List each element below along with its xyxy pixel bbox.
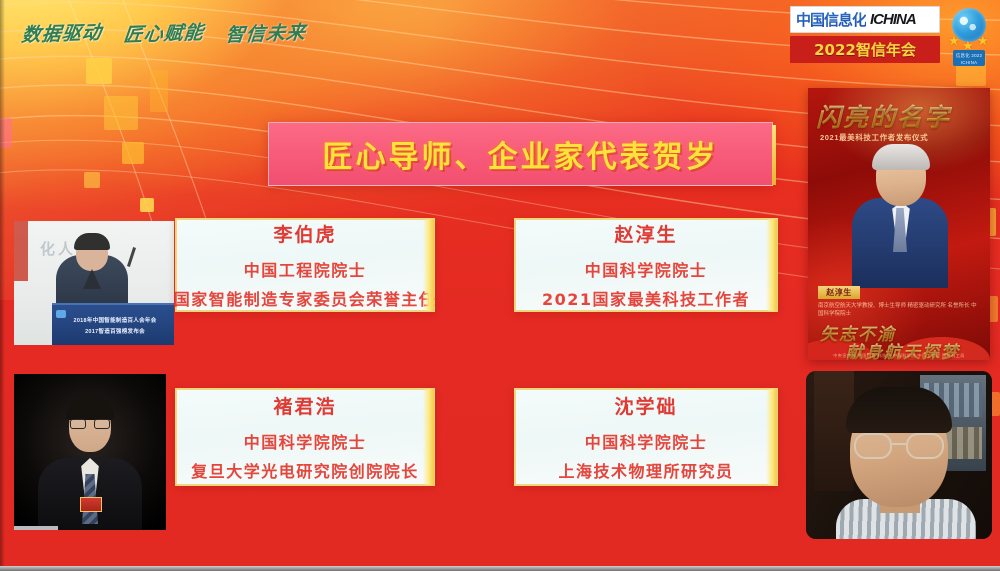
lapel-badge	[80, 497, 102, 512]
photo-chu-junhao-portrait	[14, 374, 166, 530]
person-title-line-1: 中国科学院院士	[585, 429, 708, 453]
accent-block	[122, 142, 144, 164]
person-card-li-bohu: 李伯虎 中国工程院院士 国家智能制造专家委员会荣誉主任	[175, 218, 435, 312]
glasses-icon	[70, 419, 110, 429]
logo-brand-en: ICHINA	[870, 11, 916, 28]
person-title-line-2: 复旦大学光电研究院创院院长	[191, 458, 419, 482]
poster-subtitle: 2021最美科技工作者发布仪式	[820, 132, 980, 143]
photo-shen-xuechu-portrait	[806, 371, 992, 539]
speaker-hair	[74, 233, 110, 250]
poster-person-figure	[852, 146, 948, 286]
person-title-line-1: 中国科学院院士	[244, 429, 367, 453]
event-slogan: 数据驱动 匠心赋能 智信未来	[22, 15, 322, 49]
accent-block	[86, 58, 112, 84]
magazine-poster: 闪亮的名字 2021最美科技工作者发布仪式 赵淳生 南京航空航天大学教授、博士生…	[808, 88, 990, 360]
podium-banner-line-2: 2017智造百强榜发布会	[60, 327, 170, 335]
page-title: 匠心导师、企业家代表贺岁	[323, 132, 719, 176]
poster-person-description: 南京航空航天大学教授、博士生导师 精密驱动研究所 名誉所长 中国科学院院士	[818, 302, 980, 318]
person-card-shen-xuechu: 沈学础 中国科学院院士 上海技术物理所研究员	[514, 388, 778, 486]
person-card-chu-junhao: 褚君浩 中国科学院院士 复旦大学光电研究院创院院长	[175, 388, 435, 486]
poster-person-name: 赵淳生	[818, 286, 860, 299]
person-name: 沈学础	[614, 392, 677, 419]
person-card-zhao-chunsheng: 赵淳生 中国科学院院士 2021国家最美科技工作者	[514, 218, 778, 312]
presentation-slide: 数据驱动 匠心赋能 智信未来 中国信息化 ICHINA 2022智信年会 ★ ★…	[0, 0, 1000, 571]
slide-title-banner: 匠心导师、企业家代表贺岁	[268, 122, 773, 186]
logo-textblock: 中国信息化 ICHINA 2022智信年会	[790, 6, 940, 63]
person-title-line-2: 2021国家最美科技工作者	[542, 286, 750, 310]
logo-brand-row: 中国信息化 ICHINA	[790, 6, 940, 33]
star-icon: ★	[977, 34, 989, 47]
logo-brand-cn: 中国信息化	[796, 9, 866, 30]
globe-emblem-icon: ★ ★ ★ 信息化 2022 ICHINA	[946, 6, 992, 70]
person-title-line-2: 上海技术物理所研究员	[558, 458, 733, 482]
accent-block	[84, 172, 100, 188]
person-name: 赵淳生	[614, 220, 677, 247]
slogan-part-2: 匠心赋能	[122, 17, 205, 47]
accent-block	[140, 198, 154, 212]
slogan-part-3: 智信未来	[224, 17, 307, 47]
glasses-icon	[854, 433, 944, 459]
person-title-line-1: 中国工程院院士	[244, 257, 367, 281]
podium-banner-line-1: 2018年中国智能制造百人会年会	[60, 316, 170, 324]
slogan-part-1: 数据驱动	[20, 17, 103, 47]
accent-block	[104, 96, 138, 130]
podium: 2018年中国智能制造百人会年会 2017智造百强榜发布会	[52, 303, 174, 345]
person-title-line-1: 中国科学院院士	[585, 257, 708, 281]
accent-block	[150, 70, 168, 112]
photo-bottom-bar	[14, 526, 58, 530]
portrait-hair	[846, 387, 952, 433]
person-name: 李伯虎	[273, 220, 336, 247]
poster-title: 闪亮的名字	[816, 98, 980, 134]
poster-person-hair	[872, 144, 930, 170]
poster-footer-organizers: 中央宣传部 中国科协 科技部 中国科学院 中国工程院 国防科工局	[814, 353, 984, 359]
screen-bottom-bezel	[0, 566, 1000, 571]
event-logo: 中国信息化 ICHINA 2022智信年会 ★ ★ ★ 信息化 2022 ICH…	[790, 6, 995, 78]
backdrop-red-strip	[14, 221, 28, 281]
person-name: 褚君浩	[273, 392, 336, 419]
star-icon: ★	[948, 34, 960, 47]
emblem-caption: 信息化 2022 ICHINA	[953, 50, 985, 66]
logo-event-name: 2022智信年会	[790, 36, 940, 63]
person-title-line-2: 国家智能制造专家委员会荣誉主任	[174, 286, 437, 310]
screen-left-edge	[0, 0, 5, 571]
photo-li-bohu-podium: 化人工智 2018年中国智能制造百人会年会 2017智造百强榜发布会	[14, 221, 174, 345]
